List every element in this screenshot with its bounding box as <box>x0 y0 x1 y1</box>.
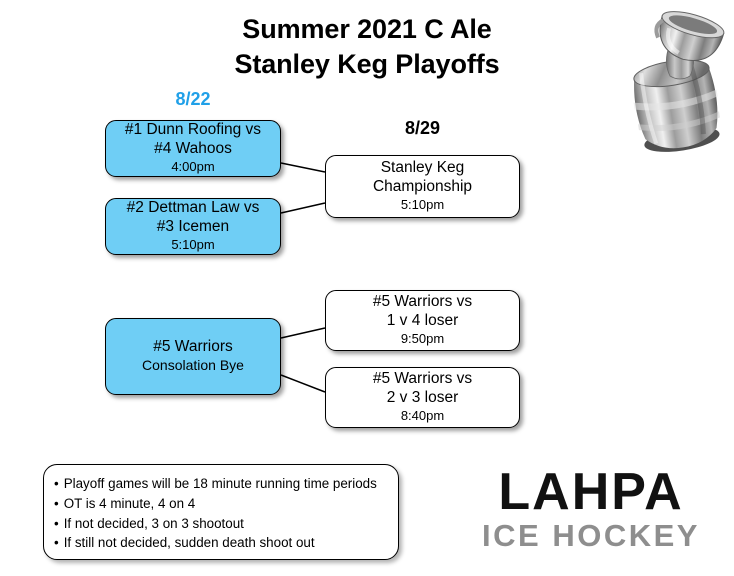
playoff-bracket-page: Summer 2021 C Ale Stanley Keg Playoffs <box>0 0 734 576</box>
consolation-game-2-line-1: #5 Warriors vs <box>373 370 472 389</box>
stanley-keg-trophy-icon <box>620 2 732 154</box>
bracket-consolation-game-2[interactable]: #5 Warriors vs 2 v 3 loser 8:40pm <box>325 367 520 428</box>
rule-item: OT is 4 minute, 4 on 4 <box>54 494 398 514</box>
round-date-semifinals: 8/22 <box>105 89 281 110</box>
rule-item: Playoff games will be 18 minute running … <box>54 474 398 494</box>
consolation-game-2-line-2: 2 v 3 loser <box>387 389 459 408</box>
bracket-game-semifinal-1[interactable]: #1 Dunn Roofing vs #4 Wahoos 4:00pm <box>105 120 281 177</box>
championship-time: 5:10pm <box>401 197 444 213</box>
semifinal-2-matchup-line-2: #3 Icemen <box>157 218 229 237</box>
semifinal-1-matchup-line-1: #1 Dunn Roofing vs <box>125 121 261 140</box>
consolation-game-1-line-1: #5 Warriors vs <box>373 293 472 312</box>
semifinal-2-matchup-line-1: #2 Dettman Law vs <box>127 199 260 218</box>
logo-primary-text: LAHPA <box>455 466 727 518</box>
semifinal-1-time: 4:00pm <box>171 159 214 175</box>
consolation-game-1-time: 9:50pm <box>401 331 444 347</box>
playoff-rules-box: Playoff games will be 18 minute running … <box>43 464 399 560</box>
semifinal-2-time: 5:10pm <box>171 237 214 253</box>
round-date-final: 8/29 <box>325 118 520 139</box>
consolation-bye-team: #5 Warriors <box>153 338 233 357</box>
playoff-rules-list: Playoff games will be 18 minute running … <box>54 474 398 553</box>
consolation-game-2-time: 8:40pm <box>401 408 444 424</box>
semifinal-1-matchup-line-2: #4 Wahoos <box>154 140 232 159</box>
bracket-consolation-game-1[interactable]: #5 Warriors vs 1 v 4 loser 9:50pm <box>325 290 520 351</box>
rule-item: If still not decided, sudden death shoot… <box>54 533 398 553</box>
rule-item: If not decided, 3 on 3 shootout <box>54 514 398 534</box>
consolation-bye-note: Consolation Bye <box>142 357 244 375</box>
bracket-game-championship[interactable]: Stanley Keg Championship 5:10pm <box>325 155 520 218</box>
bracket-consolation-bye[interactable]: #5 Warriors Consolation Bye <box>105 318 281 395</box>
consolation-game-1-line-2: 1 v 4 loser <box>387 312 459 331</box>
bracket-game-semifinal-2[interactable]: #2 Dettman Law vs #3 Icemen 5:10pm <box>105 198 281 255</box>
logo-secondary-text: ICE HOCKEY <box>455 520 727 553</box>
lahpa-logo: LAHPA ICE HOCKEY <box>455 466 727 553</box>
championship-line-1: Stanley Keg <box>381 159 465 178</box>
championship-line-2: Championship <box>373 178 472 197</box>
